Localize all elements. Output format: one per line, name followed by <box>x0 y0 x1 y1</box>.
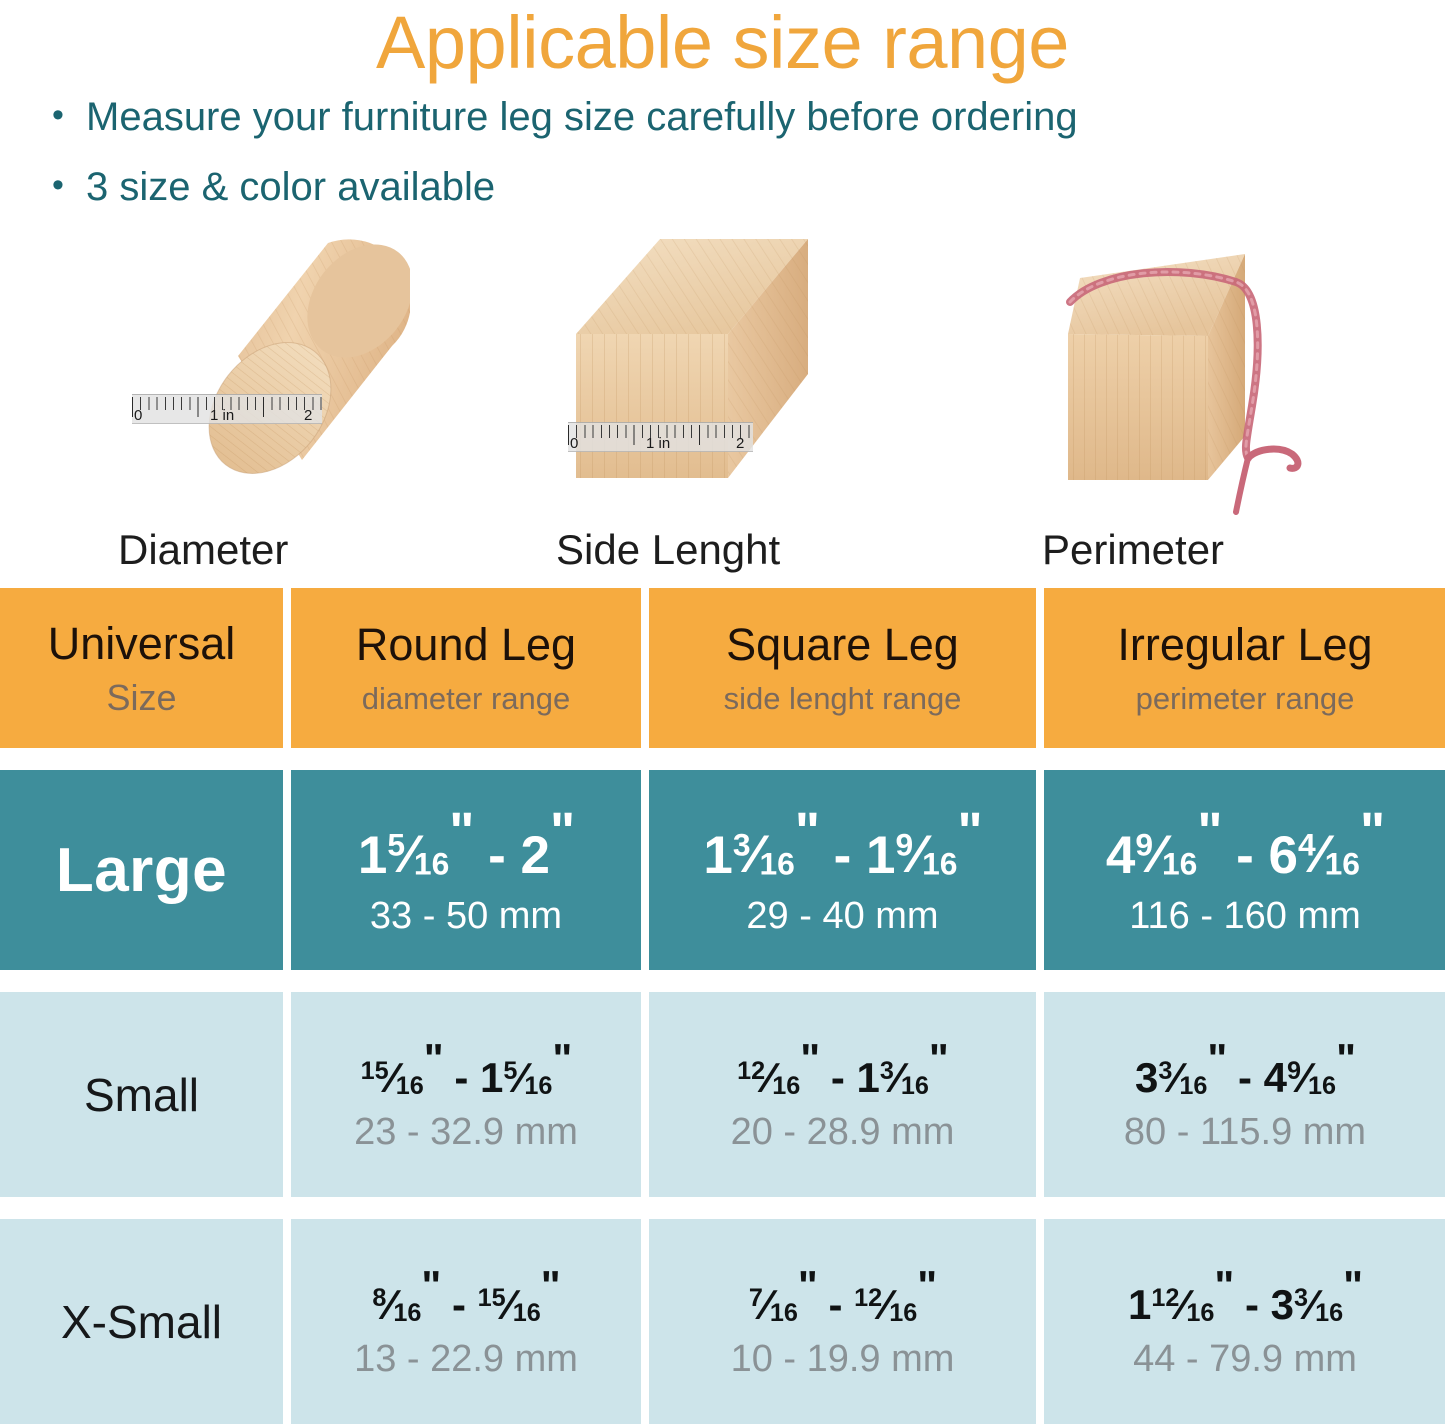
irregular-wood-leg-with-string-icon <box>1040 236 1340 521</box>
inch-range: 33⁄16" - 49⁄16" <box>1135 1038 1355 1099</box>
round-leg-value-cell: 15⁄16" - 15⁄16" 23 - 32.9 mm <box>291 992 641 1197</box>
size-label: Small <box>84 1068 199 1122</box>
ruler-label: 1 in <box>210 407 234 424</box>
column-subtitle: perimeter range <box>1136 683 1355 714</box>
page-title: Applicable size range <box>0 0 1445 80</box>
table-header-cell-irregular-leg: Irregular Leg perimeter range <box>1044 588 1445 748</box>
list-item: • 3 size & color available <box>52 166 1445 208</box>
size-label: X-Small <box>61 1295 222 1349</box>
table-row-x-small: X-Small 8⁄16" - 15⁄16" 13 - 22.9 mm 7⁄16… <box>0 1219 1445 1424</box>
ruler-label: 0 <box>134 407 142 424</box>
inch-range: 8⁄16" - 15⁄16" <box>372 1265 559 1326</box>
inch-range: 12⁄16" - 13⁄16" <box>737 1038 948 1099</box>
column-subtitle: Size <box>106 680 176 716</box>
ruler-label: 2 <box>736 435 744 452</box>
mm-range: 116 - 160 mm <box>1129 897 1361 935</box>
column-title: Square Leg <box>726 622 959 667</box>
square-wood-leg-with-ruler-icon: 0 1 in 2 <box>568 226 838 511</box>
bullet-dot-icon: • <box>52 166 86 205</box>
table-header-cell-universal-size: Universal Size <box>0 588 283 748</box>
bullet-list: • Measure your furniture leg size carefu… <box>0 96 1445 208</box>
mm-range: 44 - 79.9 mm <box>1133 1340 1357 1378</box>
mm-range: 23 - 32.9 mm <box>354 1113 578 1151</box>
bullet-text: Measure your furniture leg size carefull… <box>86 96 1078 138</box>
illustration-caption-side-lenght: Side Lenght <box>556 526 780 574</box>
square-leg-value-cell: 12⁄16" - 13⁄16" 20 - 28.9 mm <box>649 992 1036 1197</box>
mm-range: 10 - 19.9 mm <box>731 1340 955 1378</box>
table-header-cell-round-leg: Round Leg diameter range <box>291 588 641 748</box>
round-wood-leg-with-ruler-icon: 0 1 in 2 <box>130 228 410 513</box>
irregular-leg-value-cell: 112⁄16" - 33⁄16" 44 - 79.9 mm <box>1044 1219 1445 1424</box>
size-table: Universal Size Round Leg diameter range … <box>0 588 1445 1424</box>
irregular-leg-value-cell: 33⁄16" - 49⁄16" 80 - 115.9 mm <box>1044 992 1445 1197</box>
mm-range: 20 - 28.9 mm <box>731 1113 955 1151</box>
list-item: • Measure your furniture leg size carefu… <box>52 96 1445 138</box>
square-leg-value-cell: 13⁄16" - 19⁄16" 29 - 40 mm <box>649 770 1036 970</box>
mm-range: 80 - 115.9 mm <box>1124 1113 1366 1151</box>
column-title: Irregular Leg <box>1117 622 1372 667</box>
ruler-label: 1 in <box>646 435 670 452</box>
mm-range: 13 - 22.9 mm <box>354 1340 578 1378</box>
inch-range: 15⁄16" - 15⁄16" <box>361 1038 572 1099</box>
inch-range: 13⁄16" - 19⁄16" <box>703 805 981 882</box>
inch-range: 49⁄16" - 64⁄16" <box>1106 805 1384 882</box>
column-subtitle: side lenght range <box>724 683 962 714</box>
illustration-strip: 0 1 in 2 Diameter <box>0 236 1445 566</box>
inch-range: 112⁄16" - 33⁄16" <box>1128 1265 1362 1326</box>
size-label-cell: X-Small <box>0 1219 283 1424</box>
bullet-dot-icon: • <box>52 96 86 135</box>
mm-range: 33 - 50 mm <box>370 897 562 935</box>
irregular-leg-value-cell: 49⁄16" - 64⁄16" 116 - 160 mm <box>1044 770 1445 970</box>
inch-range: 15⁄16" - 2" <box>358 805 574 882</box>
round-leg-value-cell: 15⁄16" - 2" 33 - 50 mm <box>291 770 641 970</box>
round-leg-value-cell: 8⁄16" - 15⁄16" 13 - 22.9 mm <box>291 1219 641 1424</box>
table-header-cell-square-leg: Square Leg side lenght range <box>649 588 1036 748</box>
column-title: Universal <box>48 621 236 666</box>
size-label-cell: Small <box>0 992 283 1197</box>
mm-range: 29 - 40 mm <box>746 897 938 935</box>
ruler-label: 2 <box>304 407 312 424</box>
table-row-large: Large 15⁄16" - 2" 33 - 50 mm 13⁄16" - 19… <box>0 770 1445 970</box>
ruler-icon: 0 1 in 2 <box>568 422 753 452</box>
illustration-caption-perimeter: Perimeter <box>1042 526 1224 574</box>
bullet-text: 3 size & color available <box>86 166 495 208</box>
ruler-icon: 0 1 in 2 <box>132 394 322 424</box>
table-header-row: Universal Size Round Leg diameter range … <box>0 588 1445 748</box>
square-leg-value-cell: 7⁄16" - 12⁄16" 10 - 19.9 mm <box>649 1219 1036 1424</box>
column-subtitle: diameter range <box>362 683 571 714</box>
column-title: Round Leg <box>356 622 576 667</box>
ruler-label: 0 <box>570 435 578 452</box>
inch-range: 7⁄16" - 12⁄16" <box>749 1265 936 1326</box>
illustration-caption-diameter: Diameter <box>118 526 288 574</box>
size-label: Large <box>56 835 227 906</box>
size-label-cell: Large <box>0 770 283 970</box>
table-row-small: Small 15⁄16" - 15⁄16" 23 - 32.9 mm 12⁄16… <box>0 992 1445 1197</box>
